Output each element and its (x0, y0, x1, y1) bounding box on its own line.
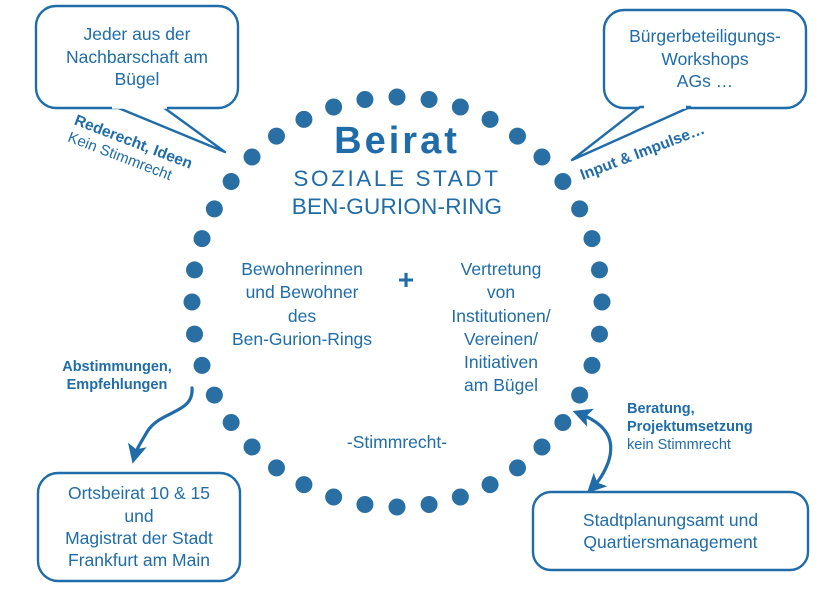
ring-dot (325, 488, 342, 505)
ring-dot (509, 459, 526, 476)
ring-dot (223, 414, 240, 431)
arrow-right-label: Beratung,Projektumsetzung kein Stimmrech… (627, 400, 787, 454)
voting-rights-note: -Stimmrecht- (257, 432, 537, 453)
arrow-left-votes (134, 388, 192, 458)
ring-dot (356, 496, 373, 513)
ring-dot (421, 91, 438, 108)
ring-dot (554, 414, 571, 431)
ring-dot (295, 476, 312, 493)
ring-dot (356, 91, 373, 108)
ring-dot (389, 499, 406, 516)
subtitle-primary: SOZIALE STADT (197, 164, 597, 193)
ring-dot (389, 89, 406, 106)
callout-top-left-text: Jeder aus derNachbarschaft amBügel (40, 8, 234, 106)
box-bottom-right-text: Stadtplanungsamt undQuartiersmanagement (537, 494, 804, 568)
center-title-block: Beirat SOZIALE STADT BEN-GURION-RING (197, 122, 597, 221)
column-residents: Bewohnerinnenund BewohnerdesBen-Gurion-R… (218, 258, 386, 351)
arrow-right-consult (578, 413, 611, 489)
arrow-left-label-bold: Abstimmungen,Empfehlungen (47, 358, 187, 394)
ring-dot (421, 496, 438, 513)
arrow-left-label: Abstimmungen,Empfehlungen (47, 358, 187, 394)
diagram-canvas: Jeder aus derNachbarschaft amBügel Reder… (0, 0, 820, 600)
center-columns: Bewohnerinnenund BewohnerdesBen-Gurion-R… (197, 258, 597, 398)
tail-label-right-bold: Input & Impulse… (578, 121, 708, 185)
ring-dot (482, 476, 499, 493)
ring-dot (583, 230, 600, 247)
page-title: Beirat (197, 122, 597, 162)
ring-dot (452, 99, 469, 116)
tail-label-left: Rederecht, Ideen Kein Stimmrecht (65, 112, 195, 190)
ring-dot (194, 230, 211, 247)
box-bottom-left-text: Ortsbeirat 10 & 15undMagistrat der Stadt… (42, 475, 236, 579)
arrow-right-label-regular: kein Stimmrecht (627, 436, 787, 454)
ring-dot (452, 488, 469, 505)
callout-top-right-text: Bürgerbeteiligungs-WorkshopsAGs … (608, 12, 802, 106)
arrow-right-label-bold: Beratung,Projektumsetzung (627, 400, 787, 436)
plus-symbol: + (386, 264, 426, 296)
column-institutions: VertretungvonInstitutionen/Vereinen/Init… (426, 258, 576, 398)
tail-label-right: Input & Impulse… (578, 121, 708, 185)
subtitle-secondary: BEN-GURION-RING (197, 193, 597, 220)
ring-dot (325, 99, 342, 116)
ring-dot (268, 459, 285, 476)
